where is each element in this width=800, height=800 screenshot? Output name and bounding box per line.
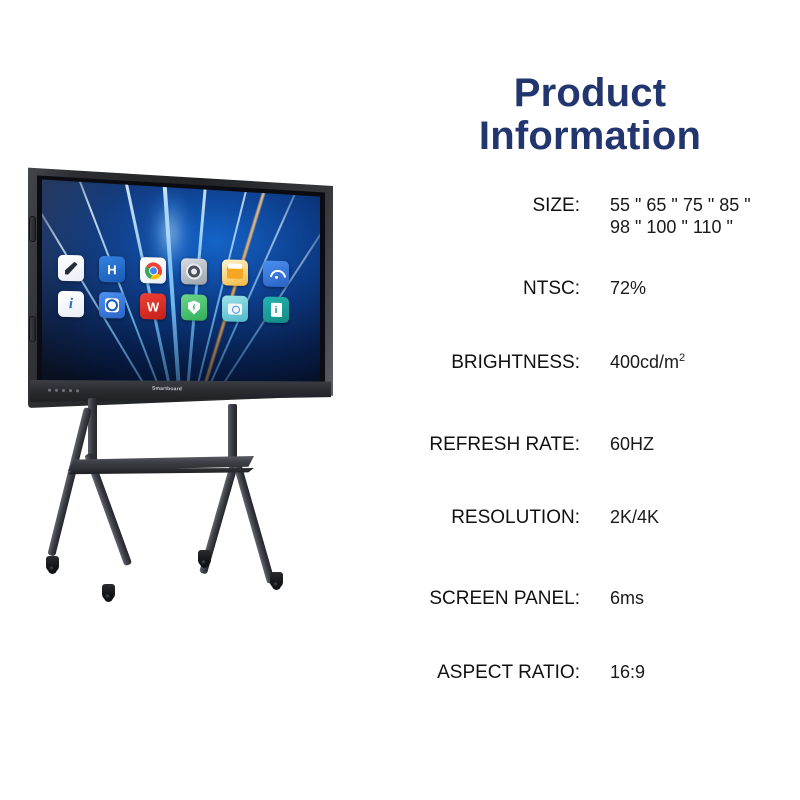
spec-value-refresh-rate: 60HZ [610, 434, 654, 456]
spec-value-ntsc: 72% [610, 278, 646, 300]
side-handle-top [29, 216, 36, 242]
spec-value-size: 55 " 65 " 75 " 85 " 98 " 100 " 110 " [610, 195, 751, 239]
stand-leg-left-front [47, 407, 92, 556]
spec-label-brightness: BRIGHTNESS: [380, 352, 580, 374]
product-photo: H i [0, 150, 380, 650]
caster-wheel [102, 584, 115, 600]
spec-value-brightness: 400cd/m2 [610, 352, 685, 374]
spec-row-size: SIZE: 55 " 65 " 75 " 85 " 98 " 100 " 110… [380, 195, 800, 235]
spec-row-brightness: BRIGHTNESS: 400cd/m2 [380, 352, 800, 392]
spec-value-resolution: 2K/4K [610, 507, 659, 529]
spec-value-screen-panel: 6ms [610, 588, 644, 610]
spec-value-brightness-superscript: 2 [679, 352, 685, 364]
spec-row-aspect-ratio: ASPECT RATIO: 16:9 [380, 662, 800, 702]
page-title-line1: Product [380, 72, 800, 115]
spec-label-size: SIZE: [380, 195, 580, 217]
spec-label-refresh-rate: REFRESH RATE: [380, 434, 580, 456]
product-information-page: H i [0, 0, 800, 800]
spec-row-resolution: RESOLUTION: 2K/4K [380, 507, 800, 547]
spec-value-brightness-text: 400cd/m [610, 352, 679, 372]
spec-row-screen-panel: SCREEN PANEL: 6ms [380, 588, 800, 628]
spec-label-aspect-ratio: ASPECT RATIO: [380, 662, 580, 684]
screen-reflection [42, 176, 320, 395]
side-handle-bottom [29, 316, 36, 342]
spec-value-aspect-ratio: 16:9 [610, 662, 645, 684]
mobile-stand-cart [20, 398, 350, 638]
page-title: Product Information [380, 72, 800, 158]
page-title-line2: Information [380, 115, 800, 158]
spec-row-ntsc: NTSC: 72% [380, 278, 800, 318]
control-buttons[interactable] [48, 389, 79, 393]
caster-wheel [46, 556, 59, 572]
spec-label-resolution: RESOLUTION: [380, 507, 580, 529]
stand-leg-right-back [232, 459, 275, 584]
spec-row-refresh-rate: REFRESH RATE: 60HZ [380, 434, 800, 474]
specification-panel: Product Information SIZE: 55 " 65 " 75 "… [380, 0, 800, 800]
spec-label-ntsc: NTSC: [380, 278, 580, 300]
display-screen: H i [42, 176, 320, 395]
caster-wheel [270, 572, 283, 588]
spec-label-screen-panel: SCREEN PANEL: [380, 588, 580, 610]
caster-wheel [198, 550, 211, 566]
interactive-flat-panel-display: H i [28, 164, 348, 414]
brand-logo: Smartboard [152, 386, 182, 393]
